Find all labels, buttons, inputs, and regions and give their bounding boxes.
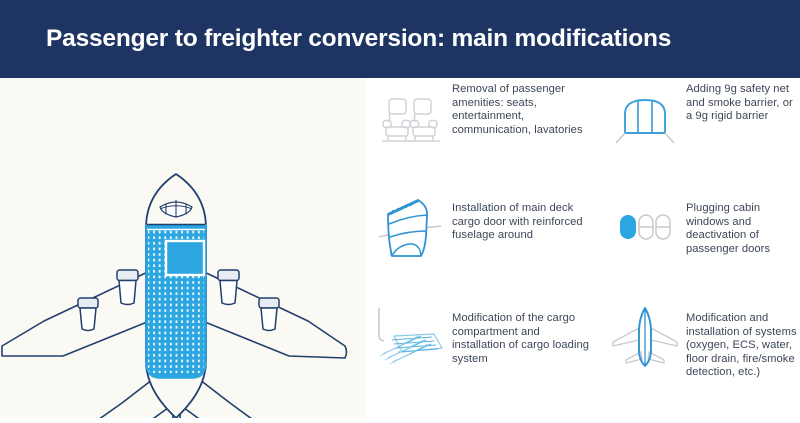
modification-text: Adding 9g safety net and smoke barrier, … [684,78,800,124]
engine-left-inner [117,270,138,305]
header-bar: Passenger to freighter conversion: main … [0,0,800,78]
modification-item-adding-safety-net: Adding 9g safety net and smoke barrier, … [600,78,800,186]
modification-text: Modification and installation of systems… [684,296,800,380]
modification-item-plugging-cabin-windows: Plugging cabin windows and deactivation … [600,186,800,296]
infographic-root: Passenger to freighter conversion: main … [0,0,800,418]
main-deck-cargo-door [166,241,204,275]
passenger-seats-icon [372,80,450,158]
modification-item-removal-of-passenger-amenities: Removal of passenger amenities: seats, e… [366,78,600,186]
page-title: Passenger to freighter conversion: main … [0,26,671,53]
engine-right-outer [259,298,279,331]
cargo-door-icon [372,188,450,266]
engine-left-outer [78,298,98,331]
modification-text: Removal of passenger amenities: seats, e… [450,78,600,137]
aircraft-top-view-illustration [0,78,366,418]
modifications-panel: Removal of passenger amenities: seats, e… [366,78,800,418]
modification-item-modification-of-cargo-compartment: Modification of the cargo compartment an… [366,296,600,418]
illustration-panel [0,78,366,418]
modification-text: Plugging cabin windows and deactivation … [684,186,800,256]
modifications-grid: Removal of passenger amenities: seats, e… [366,78,800,418]
safety-net-barrier-icon [606,80,684,158]
plugged-window [620,215,636,239]
aircraft-systems-icon [606,298,684,376]
cabin-windows-icon [606,188,684,266]
modification-text: Modification of the cargo compartment an… [450,296,600,366]
modification-item-installation-of-cargo-door: Installation of main deck cargo door wit… [366,186,600,296]
modification-item-modification-of-systems: Modification and installation of systems… [600,296,800,418]
cargo-loading-floor-icon [372,298,450,376]
engine-right-inner [218,270,239,305]
modification-text: Installation of main deck cargo door wit… [450,186,600,243]
